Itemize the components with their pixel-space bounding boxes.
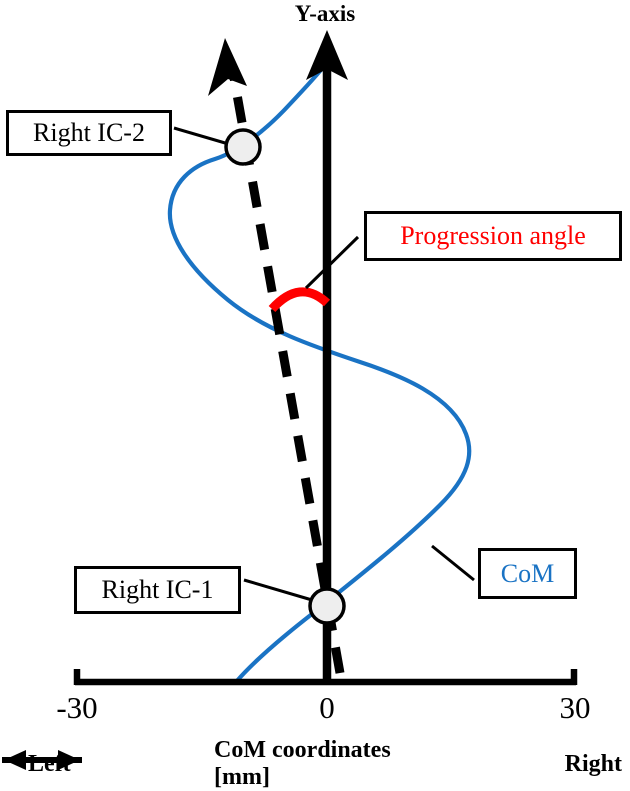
direction-right-label: Right (565, 751, 622, 778)
direction-right-group: Right (436, 751, 630, 778)
callout-com: CoM (478, 548, 577, 599)
progression-angle-arc (272, 292, 327, 309)
callout-right-ic-2: Right IC-2 (6, 110, 172, 156)
leader-line-right-ic-2 (174, 128, 232, 145)
x-axis-direction-row: Left CoM coordinates [mm] Right (0, 748, 630, 780)
arrow-right-icon (0, 748, 84, 772)
marker-right-ic-1 (310, 589, 344, 623)
figure-canvas: Y-axis Right IC-2 Progression angle Righ… (0, 0, 630, 780)
leader-line-com (432, 546, 474, 580)
marker-right-ic-2 (226, 130, 260, 164)
callout-right-ic-2-label: Right IC-2 (33, 118, 145, 148)
x-tick-label-30: 30 (540, 692, 610, 723)
x-axis-title: CoM coordinates [mm] (214, 737, 436, 791)
callout-right-ic-1: Right IC-1 (74, 566, 241, 614)
x-axis-title-group: CoM coordinates [mm] (214, 737, 436, 791)
callout-progression-angle-label: Progression angle (400, 221, 586, 251)
progression-arrow-icon (208, 38, 247, 96)
leader-line-progression-angle (306, 237, 358, 288)
callout-com-label: CoM (501, 559, 554, 589)
callout-right-ic-1-label: Right IC-1 (102, 575, 214, 605)
leader-line-right-ic-1 (244, 580, 312, 600)
x-tick-label-zero: 0 (292, 692, 362, 723)
y-axis-label: Y-axis (270, 2, 380, 25)
callout-progression-angle: Progression angle (364, 211, 622, 261)
x-tick-label-minus-30: -30 (27, 692, 127, 723)
